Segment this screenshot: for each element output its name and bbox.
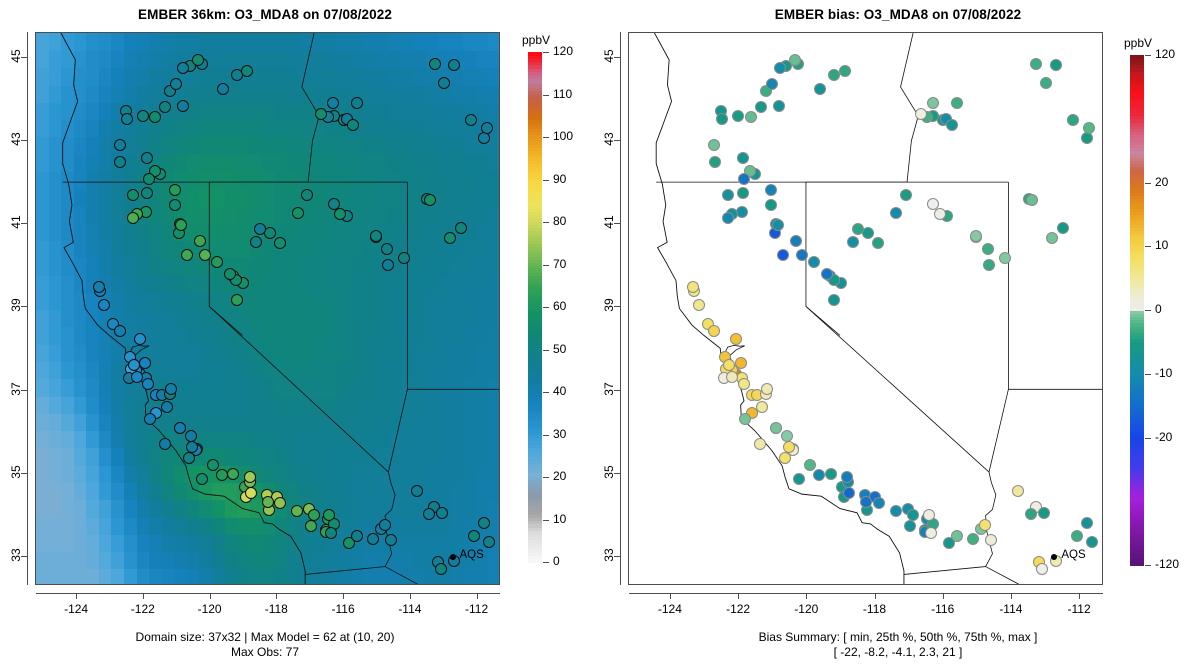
station-marker-bias <box>852 223 864 235</box>
colorbar-tick-label: 10 <box>553 512 566 526</box>
station-marker-bias <box>781 430 793 442</box>
map-plot-model: AQS <box>35 32 500 585</box>
station-marker <box>250 236 262 248</box>
colorbar-tick-label: 20 <box>1155 175 1168 189</box>
station-marker-bias <box>1046 232 1058 244</box>
colorbar-tick-label: 20 <box>553 469 566 483</box>
caption-bias-values: [ -22, -8.2, -4.1, 2.3, 21 ] <box>628 645 1168 660</box>
station-marker <box>181 249 193 261</box>
y-tick-label: 35 <box>9 452 23 492</box>
colorbar-tick-label: -120 <box>1155 557 1179 571</box>
station-marker-bias <box>777 249 789 261</box>
station-marker <box>131 371 143 383</box>
colorbar-tick-label: 100 <box>553 129 573 143</box>
colorbar-unit-label: ppbV <box>522 33 550 47</box>
station-marker <box>114 139 126 151</box>
station-marker-bias <box>1040 77 1052 89</box>
station-marker-bias <box>847 236 859 248</box>
station-marker-bias <box>814 83 826 95</box>
x-tick-label: -114 <box>380 602 440 616</box>
colorbar-tick <box>1145 565 1151 566</box>
station-marker <box>367 533 379 545</box>
x-tick <box>806 593 807 599</box>
station-marker-bias <box>923 509 935 521</box>
x-tick <box>410 593 411 599</box>
station-marker <box>194 235 206 247</box>
station-marker-bias <box>904 520 916 532</box>
station-marker <box>143 173 155 185</box>
x-tick <box>875 593 876 599</box>
caption-domain-size: Domain size: 37x32 | Max Model = 62 at (… <box>0 630 530 645</box>
colorbar-tick <box>543 137 549 138</box>
station-marker-bias <box>982 243 994 255</box>
aqs-legend-dot <box>450 554 456 560</box>
x-tick <box>670 593 671 599</box>
station-marker-bias <box>737 152 749 164</box>
station-marker <box>141 152 153 164</box>
aqs-legend-label: AQS <box>460 549 484 561</box>
station-marker <box>161 401 173 413</box>
colorbar-tick-label: 90 <box>553 172 566 186</box>
y-tick-label: 43 <box>602 119 616 159</box>
x-tick <box>1079 593 1080 599</box>
x-tick <box>76 593 77 599</box>
colorbar-tick-label: 40 <box>553 384 566 398</box>
station-marker-bias <box>862 227 874 239</box>
station-marker <box>227 468 239 480</box>
y-tick-label: 41 <box>602 202 616 242</box>
caption-bias-header: Bias Summary: [ min, 25th %, 50th %, 75t… <box>628 630 1168 645</box>
station-marker <box>398 252 410 264</box>
figure-root: EMBER 36km: O3_MDA8 on 07/08/2022 AQS -1… <box>0 0 1200 672</box>
station-marker-bias <box>925 527 937 539</box>
x-tick <box>343 593 344 599</box>
station-marker-bias <box>983 259 995 271</box>
x-tick-label: -124 <box>640 602 700 616</box>
station-marker-bias <box>825 468 837 480</box>
station-marker <box>328 198 340 210</box>
station-marker <box>199 249 211 261</box>
colorbar-tick-label: -20 <box>1155 430 1172 444</box>
station-marker-bias <box>737 187 749 199</box>
panel-model: EMBER 36km: O3_MDA8 on 07/08/2022 AQS -1… <box>0 0 600 672</box>
station-marker-bias <box>726 371 738 383</box>
station-marker <box>169 199 181 211</box>
station-marker <box>144 413 156 425</box>
station-marker-bias <box>872 237 884 249</box>
station-marker-bias <box>766 78 778 90</box>
station-marker <box>254 223 266 235</box>
x-tick-label: -114 <box>981 602 1041 616</box>
station-marker-bias <box>770 422 782 434</box>
x-tick <box>1011 593 1012 599</box>
colorbar-tick <box>543 562 549 563</box>
x-tick <box>276 593 277 599</box>
y-tick-label: 41 <box>9 202 23 242</box>
station-marker-bias <box>1025 508 1037 520</box>
x-tick-label: -120 <box>180 602 240 616</box>
station-marker-bias <box>951 97 963 109</box>
panel-title-bias: EMBER bias: O3_MDA8 on 07/08/2022 <box>628 7 1168 22</box>
colorbar-tick <box>543 307 549 308</box>
station-marker-bias <box>736 206 748 218</box>
colorbar-tick <box>1145 55 1151 56</box>
station-marker <box>216 469 228 481</box>
colorbar-tick <box>543 520 549 521</box>
colorbar-tick-label: 110 <box>553 87 572 101</box>
station-marker <box>379 519 391 531</box>
colorbar-tick <box>543 95 549 96</box>
station-marker <box>185 430 197 442</box>
station-marker <box>274 237 286 249</box>
station-marker-bias <box>890 207 902 219</box>
station-marker <box>192 54 204 66</box>
station-marker <box>308 509 320 521</box>
station-marker <box>165 383 177 395</box>
colorbar-tick-label: 10 <box>1155 238 1168 252</box>
station-marker-bias <box>1012 485 1024 497</box>
station-marker-bias <box>730 333 742 345</box>
station-marker-bias <box>1038 507 1050 519</box>
station-marker <box>385 534 397 546</box>
y-tick-label: 45 <box>602 36 616 76</box>
station-marker-bias <box>693 299 705 311</box>
station-marker-bias <box>900 189 912 201</box>
y-tick-label: 39 <box>602 285 616 325</box>
colorbar-tick-label: 50 <box>553 342 566 356</box>
station-marker-bias <box>761 383 773 395</box>
colorbar-tick <box>543 435 549 436</box>
panel-title-model: EMBER 36km: O3_MDA8 on 07/08/2022 <box>0 7 530 22</box>
y-tick-label: 33 <box>9 535 23 575</box>
colorbar-tick-label: 30 <box>553 427 566 441</box>
station-marker <box>114 325 126 337</box>
station-marker <box>444 232 456 244</box>
colorbar-tick-label: 120 <box>1155 47 1175 61</box>
station-marker-bias <box>927 198 939 210</box>
station-marker-bias <box>907 509 919 521</box>
station-marker <box>127 212 139 224</box>
y-tick-label: 37 <box>9 369 23 409</box>
station-marker-bias <box>796 249 808 261</box>
station-marker-bias <box>915 108 927 120</box>
x-tick <box>143 593 144 599</box>
station-marker-bias <box>793 473 805 485</box>
colorbar-tick <box>1145 183 1151 184</box>
station-marker <box>196 473 208 485</box>
colorbar-model: ppbV1201101009080706050403020100 <box>528 52 598 592</box>
station-marker-bias <box>783 441 795 453</box>
station-marker <box>370 230 382 242</box>
x-tick-label: -118 <box>246 602 306 616</box>
station-marker-bias <box>843 487 855 499</box>
station-marker <box>435 563 447 575</box>
x-tick <box>738 593 739 599</box>
station-marker <box>177 100 189 112</box>
panel-bias: EMBER bias: O3_MDA8 on 07/08/2022 AQS -1… <box>600 0 1200 672</box>
station-marker-bias <box>723 359 735 371</box>
station-marker-bias <box>789 54 801 66</box>
colorbar-tick <box>1145 374 1151 375</box>
station-marker-bias <box>999 252 1011 264</box>
y-axis-line <box>620 32 621 585</box>
colorbar-tick-label: -10 <box>1155 366 1172 380</box>
station-marker <box>411 485 423 497</box>
station-marker <box>244 471 256 483</box>
colorbar-tick-label: 120 <box>553 44 573 58</box>
colorbar-tick <box>543 265 549 266</box>
station-marker <box>351 97 363 109</box>
colorbar-tick <box>543 392 549 393</box>
station-marker <box>141 187 153 199</box>
station-marker-bias <box>813 469 825 481</box>
colorbar-segment <box>528 52 542 56</box>
y-tick-label: 43 <box>9 119 23 159</box>
station-marker <box>347 119 359 131</box>
colorbar-tick-label: 0 <box>1155 302 1162 316</box>
station-marker <box>438 77 450 89</box>
station-marker-bias <box>774 62 786 74</box>
station-marker <box>170 78 182 90</box>
x-tick-label: -112 <box>1049 602 1109 616</box>
station-marker <box>159 438 171 450</box>
station-marker <box>483 536 495 548</box>
station-marker-bias <box>716 113 728 125</box>
station-marker <box>429 58 441 70</box>
station-marker <box>436 507 448 519</box>
station-marker-bias <box>765 199 777 211</box>
x-tick-label: -120 <box>776 602 836 616</box>
station-marker-bias <box>1071 530 1083 542</box>
station-marker <box>224 268 236 280</box>
colorbar-tick <box>543 180 549 181</box>
colorbar-tick <box>543 52 549 53</box>
station-marker-bias <box>709 156 721 168</box>
station-marker-bias <box>821 268 833 280</box>
x-tick-label: -122 <box>708 602 768 616</box>
station-marker-bias <box>738 378 750 390</box>
station-marker-bias <box>765 184 777 196</box>
caption-max-obs: Max Obs: 77 <box>0 645 530 660</box>
station-marker <box>128 359 140 371</box>
y-tick-label: 37 <box>602 369 616 409</box>
map-plot-bias: AQS <box>628 32 1103 585</box>
station-marker-bias <box>839 65 851 77</box>
colorbar-tick <box>1145 246 1151 247</box>
colorbar-tick-label: 80 <box>553 214 566 228</box>
colorbar-tick <box>543 350 549 351</box>
y-tick-label: 35 <box>602 452 616 492</box>
station-marker-bias <box>708 325 720 337</box>
colorbar-tick-label: 70 <box>553 257 566 271</box>
station-marker-bias <box>890 505 902 517</box>
x-tick <box>210 593 211 599</box>
x-tick-label: -116 <box>313 602 373 616</box>
station-marker <box>292 207 304 219</box>
y-tick-label: 45 <box>9 36 23 76</box>
station-marker-bias <box>772 219 784 231</box>
station-marker <box>134 333 146 345</box>
y-tick-label: 39 <box>9 285 23 325</box>
station-marker <box>264 227 276 239</box>
colorbar-tick <box>543 477 549 478</box>
station-marker-bias <box>808 256 820 268</box>
station-marker-bias <box>687 281 699 293</box>
colorbar-segment <box>1130 55 1144 59</box>
x-tick-label: -118 <box>845 602 905 616</box>
colorbar-tick-label: 0 <box>553 554 560 568</box>
station-marker <box>186 441 198 453</box>
x-tick-label: -122 <box>113 602 173 616</box>
colorbar-tick <box>543 222 549 223</box>
station-marker <box>217 83 229 95</box>
x-tick-label: -112 <box>447 602 507 616</box>
station-marker-bias <box>1081 517 1093 529</box>
station-marker <box>169 184 181 196</box>
station-marker <box>274 497 286 509</box>
station-marker <box>174 422 186 434</box>
x-tick-label: -124 <box>46 602 106 616</box>
y-tick-label: 33 <box>602 535 616 575</box>
station-marker <box>323 509 335 521</box>
station-marker <box>241 65 253 77</box>
station-marker <box>327 97 339 109</box>
station-marker-bias <box>934 208 946 220</box>
colorbar-tick-label: 60 <box>553 299 566 313</box>
x-axis-line <box>629 593 1103 594</box>
y-axis-line <box>27 32 28 585</box>
station-marker <box>121 113 133 125</box>
station-marker-bias <box>873 497 885 509</box>
x-tick-label: -116 <box>913 602 973 616</box>
station-marker-bias <box>773 100 785 112</box>
colorbar-tick <box>1145 310 1151 311</box>
station-marker-bias <box>722 212 734 224</box>
station-marker <box>481 122 493 134</box>
x-tick <box>943 593 944 599</box>
aqs-legend-label-bias: AQS <box>1061 549 1085 561</box>
colorbar-tick <box>1145 438 1151 439</box>
station-marker <box>211 256 223 268</box>
station-marker <box>315 108 327 120</box>
colorbar-bias: ppbV12020100-10-20-120 <box>1130 55 1200 595</box>
x-tick <box>477 593 478 599</box>
station-marker <box>93 281 105 293</box>
station-marker-bias <box>927 97 939 109</box>
station-marker-bias <box>1086 536 1098 548</box>
station-marker <box>291 505 303 517</box>
x-axis-line <box>36 593 500 594</box>
colorbar-unit-label: ppbV <box>1124 36 1152 50</box>
